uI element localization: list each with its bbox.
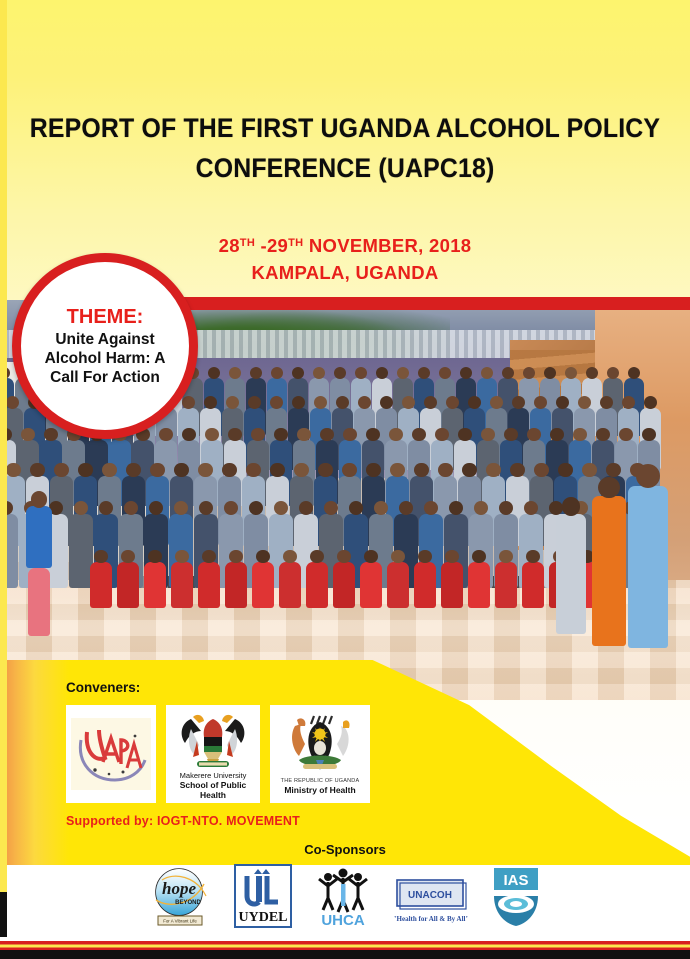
document-cover-page: REPORT OF THE FIRST UGANDA ALCOHOL POLIC… [0, 0, 690, 959]
makerere-university-logo: Makerere University School of Public Hea… [166, 705, 260, 803]
svg-text:UHCA: UHCA [321, 912, 364, 928]
svg-text:UNACOH: UNACOH [408, 890, 452, 901]
moh-caption-small: THE REPUBLIC OF UGANDA [281, 778, 360, 785]
ias-logo-icon: IAS [490, 866, 542, 928]
ministry-of-health-logo: THE REPUBLIC OF UGANDA Ministry of Healt… [270, 705, 370, 803]
ias-logo: IAS [490, 866, 542, 928]
red-ribbon-bar [120, 297, 690, 310]
date-sup-1: TH [240, 237, 255, 249]
cosponsors-title: Co-Sponsors [0, 842, 690, 857]
theme-text: Unite Against Alcohol Harm: A Call For A… [21, 330, 189, 387]
uganda-coat-of-arms-icon [287, 714, 353, 778]
uhca-logo: UHCA [314, 866, 372, 928]
date-day-sep: -29 [255, 235, 288, 256]
svg-text:BEYOND: BEYOND [175, 900, 201, 906]
supported-by-text: Supported by: IOGT-NTO. MOVEMENT [66, 814, 300, 828]
makerere-crest-icon [177, 709, 249, 771]
moh-caption-bold: Ministry of Health [284, 785, 355, 795]
cosponsors-logo-row: hope BEYOND For A Vibrant Life UYDEL [0, 864, 690, 928]
svg-text:hope: hope [162, 879, 196, 898]
conveners-label: Conveners: [66, 680, 140, 695]
unacoh-logo: UNACOH "Health for All & By All" [394, 876, 468, 928]
page-title: REPORT OF THE FIRST UGANDA ALCOHOL POLIC… [28, 108, 663, 188]
uapa-logo [66, 705, 156, 803]
theme-label: THEME: [67, 306, 144, 328]
date-day-start: 28 [219, 235, 240, 256]
uydel-logo-icon: UYDEL [234, 864, 292, 928]
makerere-caption-small: Makerere University [180, 771, 247, 780]
uapa-logo-icon [71, 718, 151, 790]
title-line-1: REPORT OF THE FIRST UGANDA ALCOHOL POLIC… [30, 113, 660, 143]
bottom-flag-stripe [0, 937, 690, 959]
date-sup-2: TH [288, 237, 303, 249]
svg-text:For A Vibrant Life: For A Vibrant Life [163, 919, 197, 924]
theme-badge: THEME: Unite Against Alcohol Harm: A Cal… [12, 253, 198, 439]
svg-text:UYDEL: UYDEL [238, 910, 287, 925]
date-month-year: NOVEMBER, 2018 [303, 235, 471, 256]
hope-and-beyond-logo-icon: hope BEYOND For A Vibrant Life [148, 866, 212, 928]
uydel-logo: UYDEL [234, 864, 292, 928]
svg-text:"Health for All & By All": "Health for All & By All" [394, 915, 468, 923]
left-border-stripe [0, 0, 7, 959]
unacoh-logo-icon: UNACOH "Health for All & By All" [394, 876, 468, 928]
title-line-2: CONFERENCE (UAPC18) [28, 148, 663, 188]
hope-and-beyond-logo: hope BEYOND For A Vibrant Life [148, 866, 212, 928]
makerere-caption-bold: School of Public Health [169, 780, 257, 800]
svg-text:IAS: IAS [503, 872, 528, 889]
conveners-logo-row: Makerere University School of Public Hea… [66, 705, 370, 803]
uhca-logo-icon: UHCA [314, 866, 372, 928]
